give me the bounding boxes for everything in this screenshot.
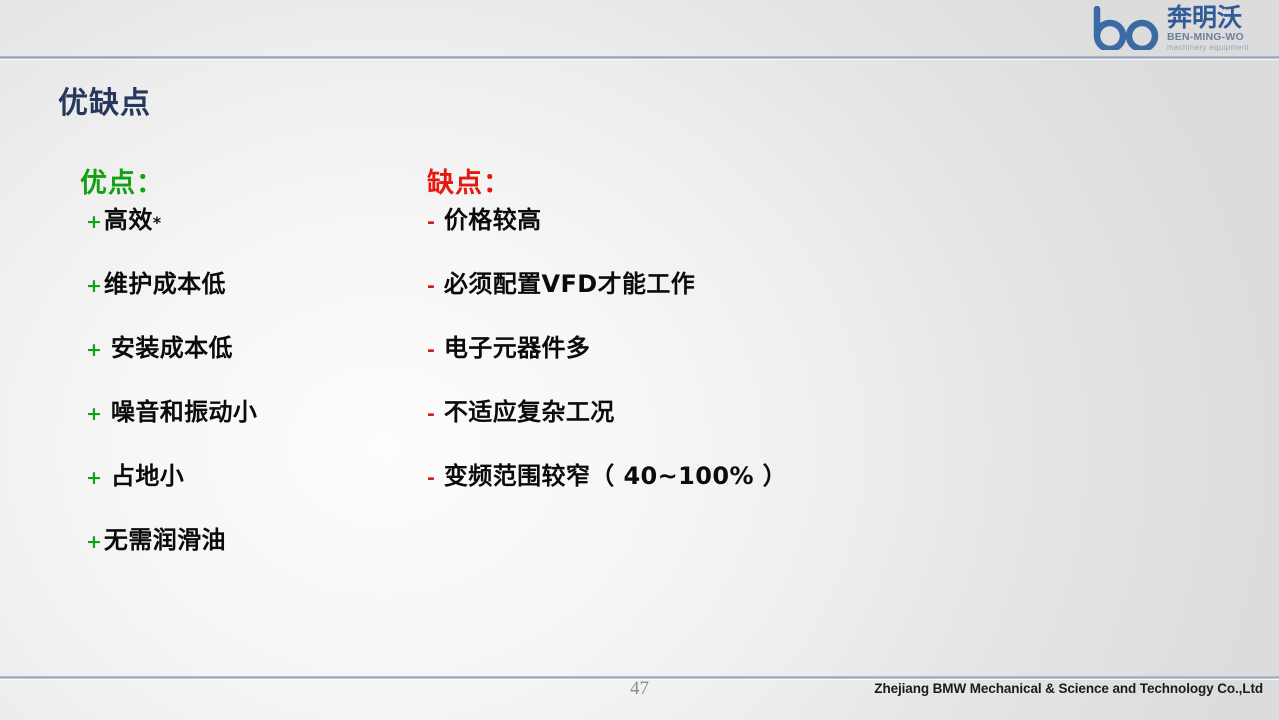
list-item: + 占地小: [80, 464, 410, 528]
footer-company-name: Zhejiang BMW Mechanical & Science and Te…: [874, 681, 1263, 696]
bo-monogram-icon: [1091, 6, 1163, 50]
header-divider: [0, 56, 1279, 59]
minus-marker-icon: -: [427, 405, 435, 424]
list-item-label: 安装成本低: [111, 336, 233, 360]
minus-marker-icon: -: [427, 213, 435, 232]
list-item-label: 占地小: [111, 464, 184, 488]
logo-english-name: BEN-MING-WO: [1167, 32, 1269, 43]
cons-list: - 价格较高 - 必须配置VFD才能工作 - 电子元器件多 -: [427, 208, 907, 528]
list-item: + 安装成本低: [80, 336, 410, 400]
list-item: - 不适应复杂工况: [427, 400, 907, 464]
list-item: - 电子元器件多: [427, 336, 907, 400]
list-item: + 无需润滑油: [80, 528, 410, 592]
list-item-label: 价格较高: [444, 208, 542, 232]
slide-canvas: 奔明沃 BEN-MING-WO machinery equipment 优缺点 …: [0, 0, 1279, 720]
plus-marker-icon: +: [86, 469, 102, 488]
logo-chinese-name: 奔明沃: [1167, 5, 1269, 30]
pros-heading: 优点：: [80, 160, 410, 208]
logo-wordmark: 奔明沃 BEN-MING-WO machinery equipment: [1167, 4, 1269, 52]
pros-column: 优点： + 高效 * + 维护成本低 + 安装成本低: [80, 160, 410, 592]
list-item-label: 噪音和振动小: [111, 400, 257, 424]
list-item-label: 高效: [104, 208, 153, 232]
list-item-label: 变频范围较窄（ 40~100% ）: [444, 464, 787, 488]
cons-heading: 缺点：: [427, 160, 907, 208]
list-item-label: 电子元器件多: [444, 336, 590, 360]
minus-marker-icon: -: [427, 277, 435, 296]
list-item-label: 不适应复杂工况: [444, 400, 615, 424]
content-columns: 优点： + 高效 * + 维护成本低 + 安装成本低: [0, 160, 1279, 630]
minus-marker-icon: -: [427, 341, 435, 360]
page-title: 优缺点: [58, 78, 151, 122]
list-item: - 必须配置VFD才能工作: [427, 272, 907, 336]
list-item: - 变频范围较窄（ 40~100% ）: [427, 464, 907, 528]
list-item-label: 维护成本低: [104, 272, 226, 296]
list-item-label: 无需润滑油: [104, 528, 226, 552]
list-item: - 价格较高: [427, 208, 907, 272]
plus-marker-icon: +: [86, 405, 102, 424]
plus-marker-icon: +: [86, 277, 102, 296]
list-item-label: 必须配置VFD才能工作: [444, 272, 695, 296]
list-item: + 高效 *: [80, 208, 410, 272]
plus-marker-icon: +: [86, 533, 102, 552]
minus-marker-icon: -: [427, 469, 435, 488]
cons-column: 缺点： - 价格较高 - 必须配置VFD才能工作 - 电子元器件多: [427, 160, 907, 528]
company-logo: 奔明沃 BEN-MING-WO machinery equipment: [1091, 3, 1269, 53]
plus-marker-icon: +: [86, 341, 102, 360]
list-item: + 噪音和振动小: [80, 400, 410, 464]
plus-marker-icon: +: [86, 213, 102, 232]
list-item: + 维护成本低: [80, 272, 410, 336]
logo-tagline: machinery equipment: [1167, 44, 1269, 52]
pros-list: + 高效 * + 维护成本低 + 安装成本低 +: [80, 208, 410, 592]
